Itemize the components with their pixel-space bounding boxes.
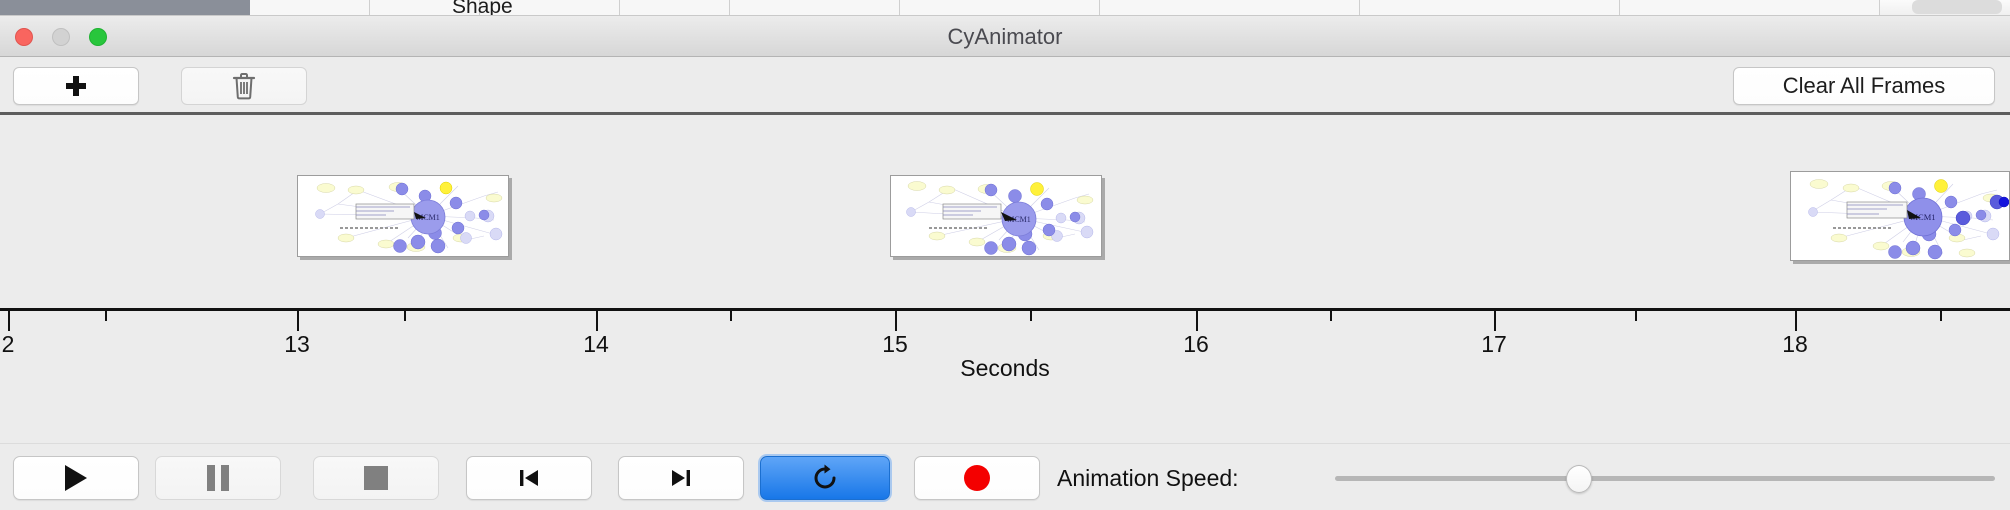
minimize-button[interactable]: [52, 28, 70, 46]
loop-button[interactable]: [760, 456, 890, 500]
axis-tick: [105, 311, 107, 321]
close-button[interactable]: [15, 28, 33, 46]
axis-tick: [404, 311, 406, 321]
animation-speed-label: Animation Speed:: [1057, 456, 1239, 500]
add-frame-button[interactable]: [13, 67, 139, 105]
play-icon: [65, 465, 87, 491]
playback-controls: Animation Speed:: [0, 443, 2010, 510]
slider-thumb[interactable]: [1566, 465, 1592, 493]
stop-icon: [364, 466, 388, 490]
delete-frame-button[interactable]: [181, 67, 307, 105]
axis-tick-label: 16: [1166, 331, 1226, 358]
clear-all-frames-label: Clear All Frames: [1783, 73, 1946, 99]
axis-tick: [596, 311, 598, 331]
background-window-strip: Shape: [0, 0, 2010, 16]
title-bar: CyAnimator: [0, 16, 2010, 57]
slider-track[interactable]: [1335, 476, 1995, 481]
axis-tick-label: 2: [0, 331, 38, 358]
axis-tick: [1030, 311, 1032, 321]
play-button[interactable]: [13, 456, 139, 500]
axis-tick-label: 14: [566, 331, 626, 358]
animation-speed-slider[interactable]: [1335, 456, 1995, 500]
axis-tick-label: 18: [1765, 331, 1825, 358]
skip-to-end-button[interactable]: [618, 456, 744, 500]
timeline-frame-2[interactable]: MCM1: [890, 175, 1102, 257]
pause-icon: [207, 465, 229, 491]
axis-tick-label: 17: [1464, 331, 1524, 358]
axis-tick: [730, 311, 732, 321]
background-window-scrollbar[interactable]: [1912, 0, 2002, 14]
axis-tick: [1635, 311, 1637, 321]
network-thumbnail: MCM1: [891, 176, 1101, 256]
record-button[interactable]: [914, 456, 1040, 500]
clear-all-frames-button[interactable]: Clear All Frames: [1733, 67, 1995, 105]
loop-icon: [810, 463, 840, 493]
axis-title: Seconds: [0, 355, 2010, 382]
axis-tick-label: 13: [267, 331, 327, 358]
axis-tick: [1330, 311, 1332, 321]
timeline-frame-1[interactable]: MCM1: [297, 175, 509, 257]
trash-icon: [232, 72, 256, 100]
axis-tick: [1795, 311, 1797, 331]
skip-forward-icon: [668, 465, 694, 491]
timeline-frame-3[interactable]: MCM1: [1790, 171, 2010, 261]
toolbar: Clear All Frames: [0, 57, 2010, 113]
axis-tick: [297, 311, 299, 331]
pause-button[interactable]: [155, 456, 281, 500]
plus-icon: [66, 76, 86, 96]
axis-tick-label: 15: [865, 331, 925, 358]
network-thumbnail: MCM1: [1791, 172, 2009, 260]
skip-to-start-button[interactable]: [466, 456, 592, 500]
axis-tick: [8, 311, 10, 331]
axis-tick: [1940, 311, 1942, 321]
maximize-button[interactable]: [89, 28, 107, 46]
timeline-axis: [0, 308, 2010, 311]
axis-tick: [1494, 311, 1496, 331]
window-title: CyAnimator: [0, 16, 2010, 57]
axis-tick: [1196, 311, 1198, 331]
background-window-label: Shape: [452, 0, 513, 16]
axis-tick: [895, 311, 897, 331]
cyanimator-window: Shape CyAnimator Clear All Frames: [0, 0, 2010, 510]
network-thumbnail: MCM1: [298, 176, 508, 256]
stop-button[interactable]: [313, 456, 439, 500]
record-icon: [964, 465, 990, 491]
background-window-titlebar: [0, 0, 250, 16]
skip-back-icon: [516, 465, 542, 491]
